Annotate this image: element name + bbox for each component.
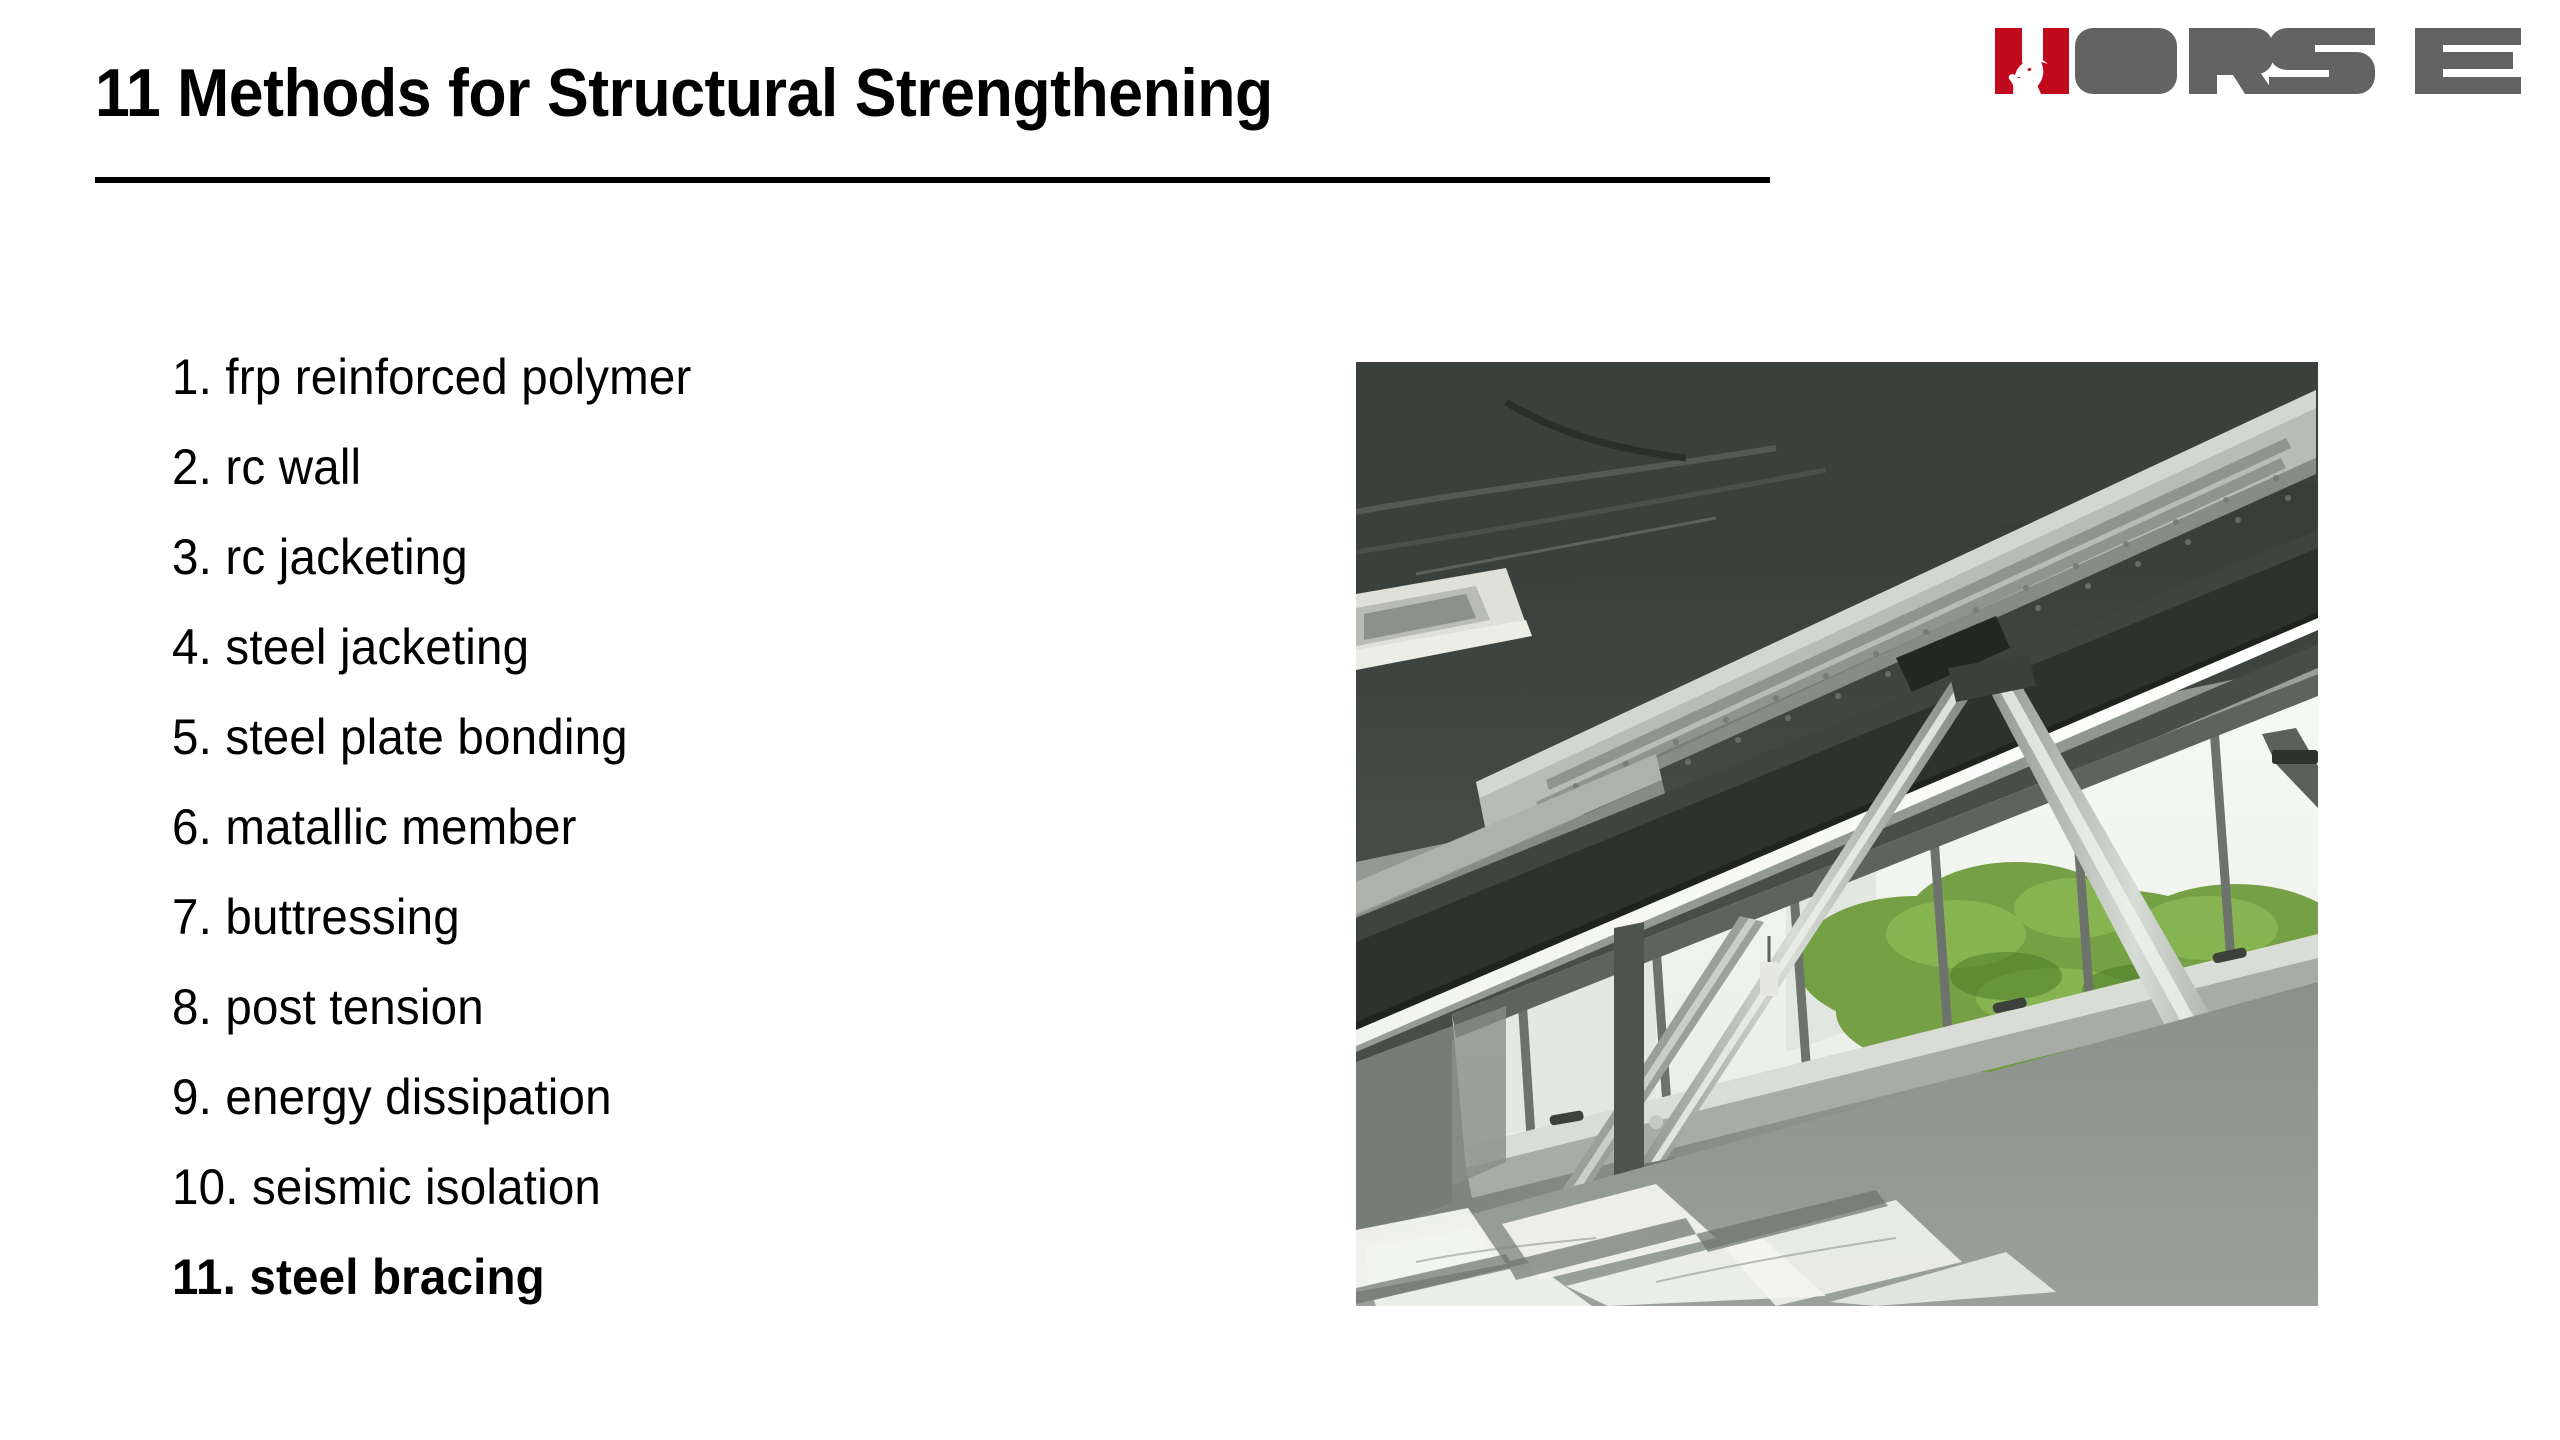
horse-logo <box>1995 28 2540 100</box>
list-item: 1. frp reinforced polymer <box>172 332 1027 422</box>
list-item: 6. matallic member <box>172 782 1027 872</box>
list-item: 5. steel plate bonding <box>172 692 1027 782</box>
slide-canvas: 11 Methods for Structural Strengthening … <box>0 0 2560 1440</box>
horse-head-icon <box>1995 28 2069 94</box>
horse-wordmark <box>2075 28 2545 94</box>
list-item: 8. post tension <box>172 962 1027 1052</box>
steel-bracing-photo <box>1356 362 2318 1306</box>
list-item: 3. rc jacketing <box>172 512 1027 602</box>
list-item: 7. buttressing <box>172 872 1027 962</box>
list-item: 9. energy dissipation <box>172 1052 1027 1142</box>
page-title: 11 Methods for Structural Strengthening <box>95 58 1273 129</box>
list-item-highlighted: 11. steel bracing <box>172 1232 1027 1322</box>
list-item: 4. steel jacketing <box>172 602 1027 692</box>
list-item: 2. rc wall <box>172 422 1027 512</box>
methods-list: 1. frp reinforced polymer 2. rc wall 3. … <box>172 332 1072 1322</box>
list-item: 10. seismic isolation <box>172 1142 1027 1232</box>
title-underline <box>95 177 1770 183</box>
